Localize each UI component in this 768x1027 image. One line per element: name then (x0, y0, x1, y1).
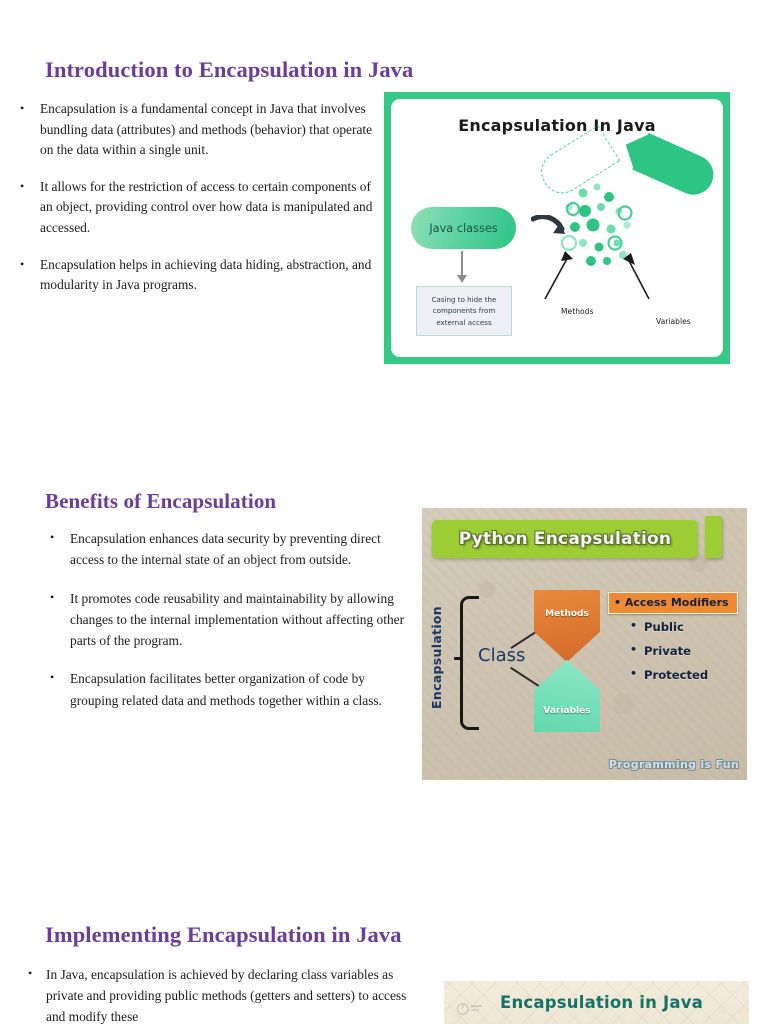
brand-logo-icon (456, 1001, 486, 1017)
figure-banner-title: Python Encapsulation (459, 529, 671, 549)
methods-label: Methods (545, 609, 589, 619)
figure-banner-title: Encapsulation in Java (500, 993, 703, 1012)
figure-banner: Python Encapsulation (432, 520, 698, 558)
java-classes-pill: Java classes (411, 207, 516, 249)
figure-canvas: Encapsulation In Java Java classes Casin… (391, 99, 723, 357)
list-item: It allows for the restriction of access … (18, 177, 378, 239)
bullet-dot-icon: • (614, 596, 621, 609)
python-encapsulation-figure: Python Encapsulation Encapsulation Class… (422, 508, 747, 780)
intro-bullet-list: Encapsulation is a fundamental concept i… (18, 99, 378, 312)
access-modifiers-label: Access Modifiers (625, 596, 729, 609)
variables-shape: Variables (534, 660, 600, 732)
banner-side-tab (705, 516, 722, 558)
casing-note-text: Casing to hide the components from exter… (417, 294, 511, 329)
access-modifiers-list: Public Private Protected (630, 620, 708, 692)
spilled-components-icon (539, 181, 669, 311)
list-item: Encapsulation helps in achieving data hi… (18, 255, 378, 296)
list-item: It promotes code reusability and maintai… (44, 588, 410, 652)
class-label: Class (478, 645, 525, 666)
variables-label: Variables (543, 706, 590, 716)
java-classes-label: Java classes (429, 222, 497, 235)
encapsulation-in-java-figure: Encapsulation In Java Java classes Casin… (384, 92, 730, 364)
curly-brace-icon (460, 596, 479, 730)
methods-label: Methods (561, 307, 593, 316)
figure-title: Encapsulation In Java (391, 116, 723, 135)
section-title-benefits: Benefits of Encapsulation (45, 488, 276, 514)
access-modifiers-badge: • Access Modifiers (608, 592, 738, 614)
list-item: In Java, encapsulation is achieved by de… (22, 964, 422, 1027)
page-title: Introduction to Encapsulation in Java (45, 56, 413, 84)
implementing-bullet-list: In Java, encapsulation is achieved by de… (22, 964, 422, 1027)
variables-label: Variables (656, 317, 691, 326)
encapsulation-axis-label: Encapsulation (429, 606, 444, 709)
casing-note-box: Casing to hide the components from exter… (416, 286, 512, 336)
list-item: Encapsulation enhances data security by … (44, 528, 410, 571)
section-title-implementing: Implementing Encapsulation in Java (45, 921, 402, 949)
list-item: Public (630, 620, 708, 634)
methods-shape: Methods (534, 590, 600, 662)
list-item: Protected (630, 668, 708, 682)
list-item: Private (630, 644, 708, 658)
down-arrow-icon (461, 251, 463, 277)
list-item: Encapsulation is a fundamental concept i… (18, 99, 378, 161)
figure-footer-text: Programming is Fun (609, 758, 739, 771)
connector-line-variables (510, 667, 539, 687)
list-item: Encapsulation facilitates better organiz… (44, 668, 410, 711)
encapsulation-in-java-banner-figure: Encapsulation in Java (444, 981, 749, 1024)
benefits-bullet-list: Encapsulation enhances data security by … (44, 528, 410, 728)
